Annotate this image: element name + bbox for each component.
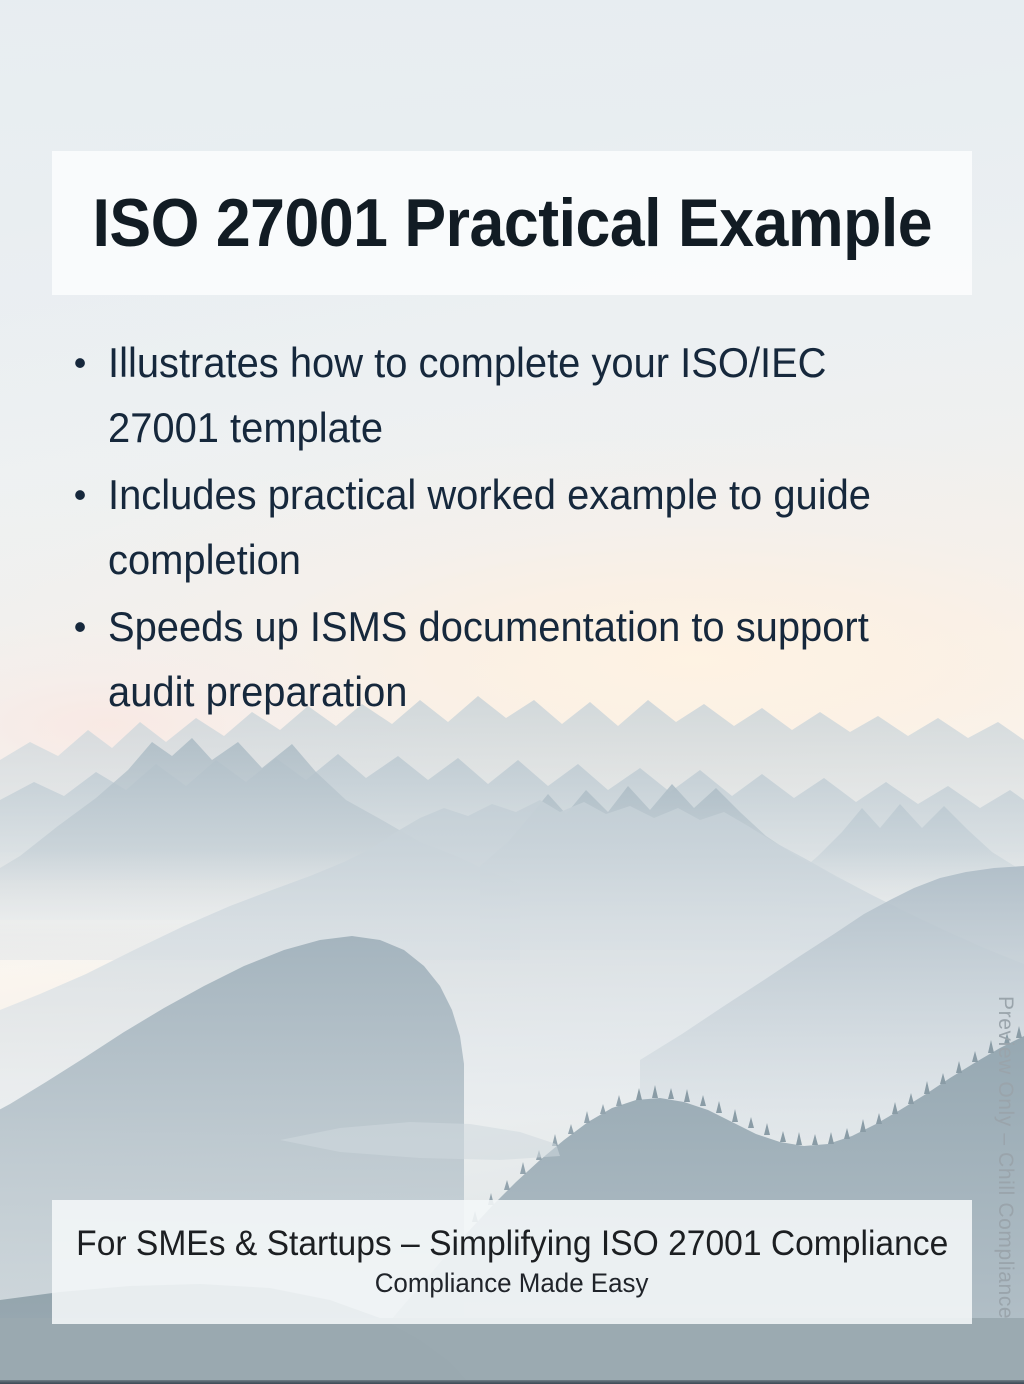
footer-subtitle: Compliance Made Easy bbox=[375, 1267, 649, 1301]
list-item: • Speeds up ISMS documentation to suppor… bbox=[52, 594, 982, 724]
bullet-point-icon: • bbox=[52, 462, 108, 527]
list-item: • Includes practical worked example to g… bbox=[52, 462, 982, 592]
page-title: ISO 27001 Practical Example bbox=[92, 189, 932, 257]
bottom-edge-line bbox=[0, 1380, 1024, 1384]
slide-canvas: ISO 27001 Practical Example • Illustrate… bbox=[0, 0, 1024, 1384]
bullet-text: Speeds up ISMS documentation to support … bbox=[108, 594, 938, 724]
list-item: • Illustrates how to complete your ISO/I… bbox=[52, 330, 982, 460]
bullet-text: Illustrates how to complete your ISO/IEC… bbox=[108, 330, 938, 460]
bullet-text: Includes practical worked example to gui… bbox=[108, 462, 938, 592]
footer-tagline: For SMEs & Startups – Simplifying ISO 27… bbox=[76, 1223, 948, 1265]
bullet-list: • Illustrates how to complete your ISO/I… bbox=[52, 330, 982, 726]
title-panel: ISO 27001 Practical Example bbox=[52, 151, 972, 295]
footer-panel: For SMEs & Startups – Simplifying ISO 27… bbox=[52, 1200, 972, 1324]
valley-fill-bottom bbox=[0, 1318, 1024, 1384]
bullet-point-icon: • bbox=[52, 594, 108, 659]
bullet-point-icon: • bbox=[52, 330, 108, 395]
